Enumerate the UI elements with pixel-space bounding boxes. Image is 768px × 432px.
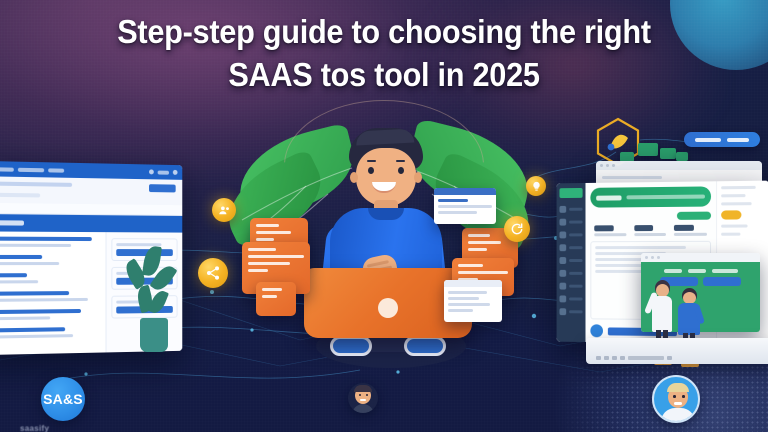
list-item[interactable] (0, 309, 100, 322)
right-dashboard-sidebar (557, 183, 586, 342)
refresh-icon[interactable] (504, 216, 530, 242)
bell-icon[interactable] (149, 169, 154, 174)
floating-card[interactable] (256, 282, 296, 316)
sidebar-item[interactable] (559, 219, 582, 226)
headline-line-1: Step-step guide to choosing the right (117, 13, 651, 50)
green-chip (660, 148, 676, 159)
face (356, 148, 416, 206)
nav-item[interactable] (48, 168, 64, 172)
floating-window[interactable] (434, 188, 496, 224)
sidebar-item[interactable] (559, 231, 582, 238)
avatar-center[interactable] (348, 383, 378, 413)
keyboard-base (586, 338, 768, 364)
ear-left (350, 172, 358, 183)
sidebar-item[interactable] (559, 283, 582, 290)
cta-pill-button[interactable] (684, 132, 760, 147)
ear-right (414, 172, 422, 183)
list-item[interactable] (0, 327, 100, 340)
primary-action-button[interactable] (149, 184, 176, 192)
stat-card (594, 225, 626, 236)
saas-logo-text: SA&S (43, 391, 83, 407)
pill-label-b (727, 138, 749, 142)
avatar[interactable] (173, 170, 178, 175)
stats-row (590, 225, 711, 237)
sidebar-item[interactable] (559, 206, 582, 213)
user-label[interactable] (158, 170, 169, 174)
hero-graphic: Step-step guide to choosing the right SA… (0, 0, 768, 432)
brow-right (396, 160, 405, 162)
headline-line-2: SAAS tos tool in 2025 (27, 54, 741, 97)
green-window-button[interactable] (703, 277, 741, 286)
list-item[interactable] (0, 291, 100, 303)
stat-card (674, 225, 707, 236)
nav-item[interactable] (18, 167, 44, 172)
hero-action-button[interactable] (677, 212, 711, 220)
green-chip (676, 152, 688, 161)
list-container (0, 231, 106, 355)
green-chip (638, 143, 658, 156)
table-section-header (0, 214, 182, 233)
eye-left (368, 167, 374, 174)
sidebar-item[interactable] (559, 257, 582, 264)
nav-item[interactable] (0, 167, 14, 171)
saas-logo-badge[interactable]: SA&S (41, 377, 85, 421)
list-item[interactable] (0, 273, 100, 285)
page-title: Step-step guide to choosing the right SA… (27, 11, 741, 97)
share-nodes-icon[interactable] (198, 258, 228, 288)
window-titlebar (641, 253, 760, 262)
sidebar-item[interactable] (559, 244, 582, 251)
pill-label-a (695, 138, 721, 142)
list-item[interactable] (0, 237, 100, 249)
floating-window[interactable] (444, 280, 502, 322)
sidebar-item[interactable] (559, 270, 582, 277)
saas-subtext: saasify (20, 424, 140, 432)
laptop-logo-icon (378, 298, 398, 318)
list-item[interactable] (0, 255, 100, 266)
sidebar-item[interactable] (559, 295, 582, 302)
stat-card (634, 225, 666, 236)
help-fab-icon[interactable] (590, 324, 603, 337)
shoe-left (330, 336, 372, 356)
avatar-right[interactable] (652, 375, 700, 423)
brow-left (367, 160, 376, 162)
sidebar-item[interactable] (559, 308, 582, 315)
shoe-right (404, 336, 446, 356)
potted-plant-decoration (126, 246, 180, 354)
app-logo-icon (559, 188, 582, 198)
lightbulb-icon[interactable] (526, 176, 546, 196)
coin-badge-icon (721, 210, 741, 219)
users-icon[interactable] (212, 198, 236, 222)
hero-banner (590, 186, 711, 207)
eye-right (398, 167, 404, 174)
